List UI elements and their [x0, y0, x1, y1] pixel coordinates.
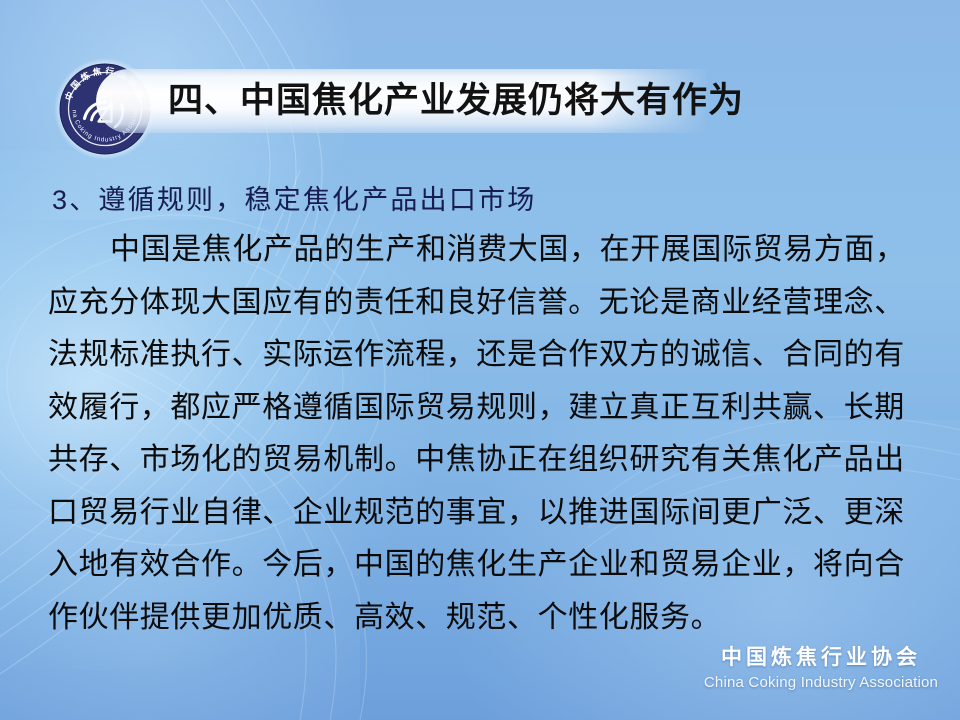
body-line: 共存、市场化的贸易机制。中焦协正在组织研究有关焦化产品出 [48, 434, 934, 487]
section-subheading: 3、遵循规则，稳定焦化产品出口市场 [52, 178, 536, 217]
footer-organization-name-cn: 中国炼焦行业协会 [696, 644, 946, 671]
slide-title: 四、中国焦化产业发展仍将大有作为 [168, 75, 744, 127]
body-line: 作伙伴提供更加优质、高效、规范、个性化服务。 [48, 592, 934, 645]
body-line: 口贸易行业自律、企业规范的事宜，以推进国际间更广泛、更深 [48, 487, 934, 540]
body-paragraph: 中国是焦化产品的生产和消费大国，在开展国际贸易方面， 应充分体现大国应有的责任和… [48, 224, 934, 644]
body-line: 法规标准执行、实际运作流程，还是合作双方的诚信、合同的有 [48, 329, 934, 382]
presentation-slide: 中国炼焦行业协会 China Coking Industry Associati… [0, 0, 960, 720]
body-line: 应充分体现大国应有的责任和良好信誉。无论是商业经营理念、 [48, 277, 934, 330]
footer-organization-name-en: China Coking Industry Association [696, 672, 946, 694]
body-line: 中国是焦化产品的生产和消费大国，在开展国际贸易方面， [48, 224, 934, 277]
body-line: 入地有效合作。今后，中国的焦化生产企业和贸易企业，将向合 [48, 539, 934, 592]
footer-branding: 中国炼焦行业协会 China Coking Industry Associati… [696, 644, 946, 694]
body-line: 效履行，都应严格遵循国际贸易规则，建立真正互利共赢、长期 [48, 382, 934, 435]
